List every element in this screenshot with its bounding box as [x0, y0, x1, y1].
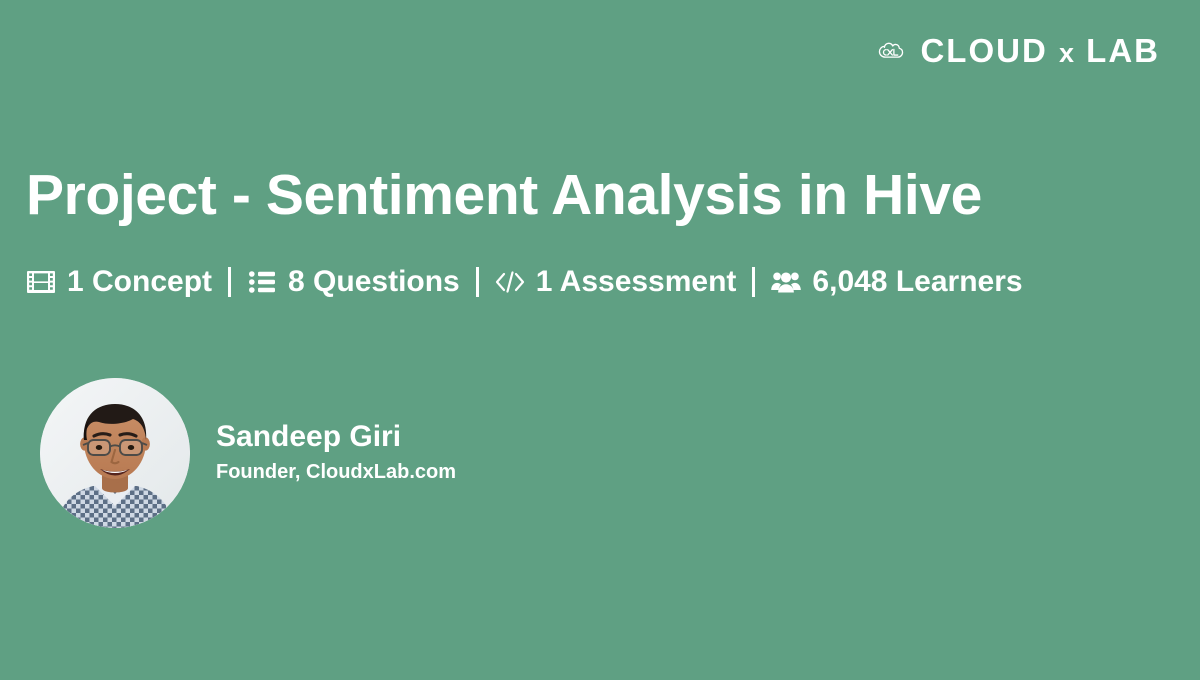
code-tags-icon — [495, 267, 525, 297]
instructor-name: Sandeep Giri — [216, 419, 456, 454]
instructor-role: Founder, CloudxLab.com — [216, 459, 456, 485]
meta-separator — [228, 267, 231, 297]
meta-separator — [752, 267, 755, 297]
meta-label-questions: 8 Questions — [288, 267, 460, 297]
brand-name: CLOUD x LAB — [920, 34, 1160, 67]
course-meta-stats: 1 Concept 8 Questions 1 Assessment — [26, 260, 1023, 304]
instructor-block: Sandeep Giri Founder, CloudxLab.com — [40, 378, 456, 528]
brand-word-lab: LAB — [1086, 32, 1160, 69]
meta-item-learners: 6,048 Learners — [771, 267, 1022, 297]
meta-label-learners: 6,048 Learners — [812, 267, 1022, 297]
list-tasks-icon — [247, 267, 277, 297]
meta-label-concepts: 1 Concept — [67, 267, 212, 297]
film-strip-icon — [26, 267, 56, 297]
instructor-portrait-photo — [40, 378, 190, 528]
course-banner: { "theme": { "background": "#5FA083", "f… — [0, 0, 1200, 680]
meta-item-concepts: 1 Concept — [26, 267, 212, 297]
instructor-details: Sandeep Giri Founder, CloudxLab.com — [216, 419, 456, 486]
meta-label-assessment: 1 Assessment — [536, 267, 737, 297]
meta-separator — [476, 267, 479, 297]
meta-item-assessment: 1 Assessment — [495, 267, 737, 297]
brand-word-cloud: CLOUD — [920, 32, 1047, 69]
brand-logo[interactable]: CLOUD x LAB — [876, 34, 1160, 67]
users-group-icon — [771, 267, 801, 297]
course-title: Project - Sentiment Analysis in Hive — [26, 166, 982, 226]
avatar — [40, 378, 190, 528]
brand-word-x: x — [1059, 38, 1075, 68]
meta-item-questions: 8 Questions — [247, 267, 460, 297]
cloud-cxl-logo-icon — [876, 36, 906, 66]
